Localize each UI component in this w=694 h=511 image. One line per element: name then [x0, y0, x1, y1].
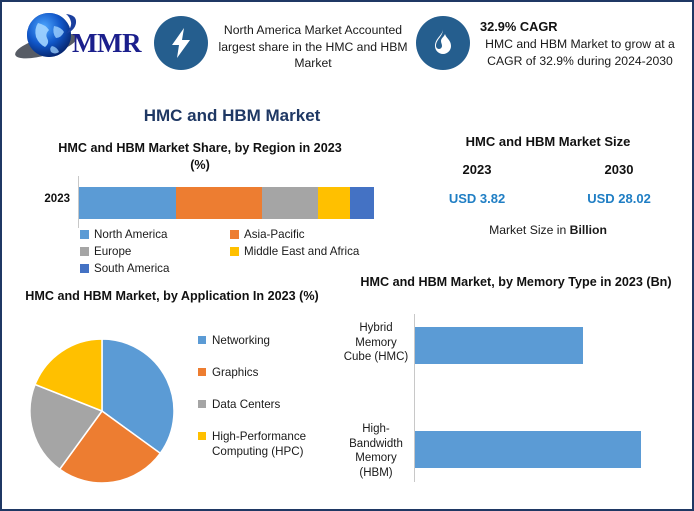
region-legend-label: North America — [94, 228, 167, 241]
region-legend-label: Middle East and Africa — [244, 245, 359, 258]
pie-legend-item: Graphics — [198, 365, 340, 380]
region-axis-label: 2023 — [24, 193, 70, 205]
region-legend-label: Europe — [94, 245, 131, 258]
pie-legend-label: High-Performance Computing (HPC) — [212, 429, 340, 459]
pie-legend: NetworkingGraphicsData CentersHigh-Perfo… — [198, 333, 340, 476]
region-legend-label: Asia-Pacific — [244, 228, 305, 241]
pie-legend-label: Data Centers — [212, 397, 280, 412]
pie-legend-label: Networking — [212, 333, 270, 348]
memory-bar-hmc — [415, 327, 583, 364]
pie-legend-label: Graphics — [212, 365, 258, 380]
region-stacked-bar — [79, 187, 374, 219]
legend-swatch-icon — [80, 230, 89, 239]
market-size-value: USD 3.82 — [406, 191, 548, 206]
region-segment — [79, 187, 176, 219]
market-size-block: HMC and HBM Market Size 2023 USD 3.82 20… — [406, 134, 690, 237]
pie-graphic — [29, 338, 175, 484]
region-legend-item: Europe — [80, 243, 230, 260]
memory-bar-hbm — [415, 431, 641, 468]
legend-swatch-icon — [80, 247, 89, 256]
legend-swatch-icon — [80, 264, 89, 273]
flame-icon — [416, 16, 470, 70]
pie-legend-item: Networking — [198, 333, 340, 348]
memory-category-label: Hybrid Memory Cube (HMC) — [340, 321, 412, 365]
legend-swatch-icon — [198, 368, 206, 376]
memory-chart-title: HMC and HBM Market, by Memory Type in 20… — [356, 274, 676, 291]
region-chart-title: HMC and HBM Market Share, by Region in 2… — [50, 140, 350, 174]
pie-legend-item: High-Performance Computing (HPC) — [198, 429, 340, 459]
header: MMR North America Market Accounted large… — [2, 2, 692, 92]
application-pie-chart: HMC and HBM Market, by Application In 20… — [2, 288, 342, 508]
region-legend-label: South America — [94, 262, 169, 275]
region-legend-item: South America — [80, 260, 230, 277]
page-title: HMC and HBM Market — [2, 106, 462, 126]
region-share-chart: HMC and HBM Market Share, by Region in 2… — [2, 140, 402, 280]
memory-type-chart: HMC and HBM Market, by Memory Type in 20… — [336, 274, 692, 506]
brand-logo: MMR — [14, 8, 142, 70]
header-highlight-2: 32.9% CAGR HMC and HBM Market to grow at… — [480, 18, 680, 69]
market-size-footnote: Market Size in Billion — [406, 223, 690, 237]
pie-legend-item: Data Centers — [198, 397, 340, 412]
legend-swatch-icon — [198, 336, 206, 344]
region-segment — [262, 187, 318, 219]
market-size-years: 2023 USD 3.82 2030 USD 28.02 — [406, 162, 690, 206]
market-size-footnote-unit: Billion — [570, 223, 607, 237]
header-highlight-1-text: North America Market Accounted largest s… — [217, 22, 409, 72]
market-size-year: 2023 — [406, 162, 548, 177]
lightning-bolt-icon — [154, 16, 208, 70]
cagr-headline: 32.9% CAGR — [480, 18, 680, 35]
market-size-footnote-prefix: Market Size in — [489, 223, 570, 237]
pie-chart-title: HMC and HBM Market, by Application In 20… — [22, 288, 322, 305]
market-size-year: 2030 — [548, 162, 690, 177]
region-legend-item: Asia-Pacific — [230, 226, 380, 243]
region-segment — [176, 187, 262, 219]
market-size-col-1: 2030 USD 28.02 — [548, 162, 690, 206]
legend-swatch-icon — [198, 400, 206, 408]
region-legend: North AmericaAsia-PacificEuropeMiddle Ea… — [80, 226, 380, 277]
infographic-frame: MMR North America Market Accounted large… — [0, 0, 694, 511]
region-segment — [318, 187, 350, 219]
region-legend-item: North America — [80, 226, 230, 243]
market-size-value: USD 28.02 — [548, 191, 690, 206]
legend-swatch-icon — [230, 247, 239, 256]
region-segment — [350, 187, 374, 219]
market-size-title: HMC and HBM Market Size — [406, 134, 690, 149]
brand-name: MMR — [72, 28, 141, 59]
region-legend-item: Middle East and Africa — [230, 243, 380, 260]
market-size-col-0: 2023 USD 3.82 — [406, 162, 548, 206]
cagr-description: HMC and HBM Market to grow at a CAGR of … — [480, 36, 680, 69]
legend-swatch-icon — [230, 230, 239, 239]
legend-swatch-icon — [198, 432, 206, 440]
memory-category-label: High-Bandwidth Memory (HBM) — [340, 422, 412, 480]
